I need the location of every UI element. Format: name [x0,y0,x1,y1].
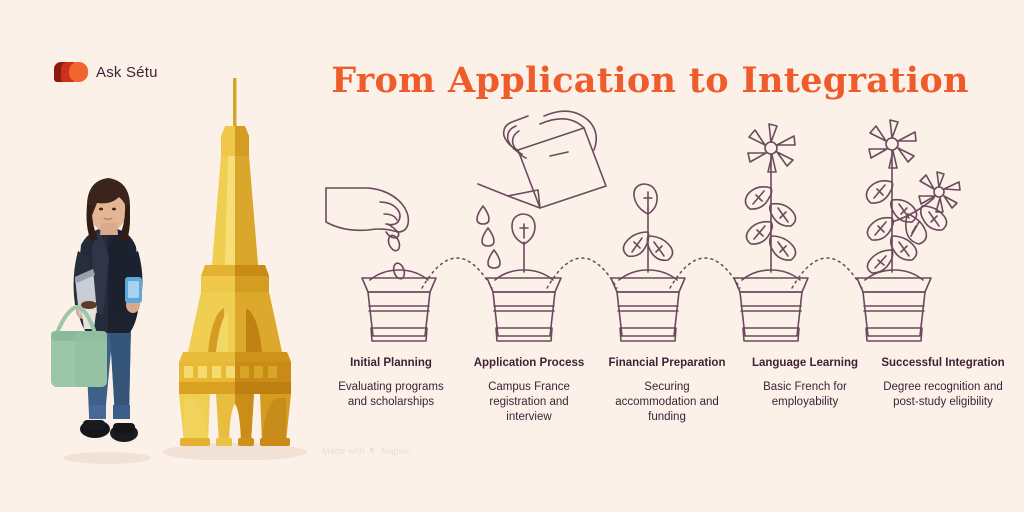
watermark-prefix: Made with [322,446,365,456]
step-caption-3: Financial Preparation Securing accommoda… [598,356,736,425]
step-caption-4: Language Learning Basic French for emplo… [736,356,874,425]
step-caption-1: Initial Planning Evaluating programs and… [322,356,460,425]
pot-step-5 [857,270,931,341]
blooming-plant-icon [866,120,960,273]
flowering-plant-icon [745,124,795,272]
step-title: Application Process [466,356,592,370]
watering-can-icon [478,111,606,208]
hand-dropping-seed-icon [326,188,408,238]
step-captions: Initial Planning Evaluating programs and… [322,356,1012,425]
sprout-icon [512,214,535,272]
napkin-logo-icon [369,447,378,456]
watermark-brand: Napkin [382,446,411,456]
pot-step-2 [487,270,561,341]
step-title: Initial Planning [328,356,454,370]
step-description: Degree recognition and post-study eligib… [880,380,1006,410]
step-description: Campus France registration and interview [466,380,592,425]
step-description: Basic French for employability [742,380,868,410]
napkin-watermark: Made with Napkin [322,446,411,456]
step-description: Securing accommodation and funding [604,380,730,425]
step-caption-5: Successful Integration Degree recognitio… [874,356,1012,425]
water-droplets-icon [477,206,500,268]
hero-illustration [20,60,320,460]
seedling-icon [623,184,672,272]
step-description: Evaluating programs and scholarships [328,380,454,410]
step-title: Financial Preparation [604,356,730,370]
step-caption-2: Application Process Campus France regist… [460,356,598,425]
infographic-canvas: Ask Sétu From Application to Integration [0,0,1024,512]
growth-journey-illustration [322,110,1012,350]
pot-step-1 [362,270,436,341]
student-with-phone-illustration [45,165,170,465]
eiffel-tower-illustration [150,60,320,460]
step-title: Language Learning [742,356,868,370]
step-title: Successful Integration [880,356,1006,370]
page-title: From Application to Integration [310,58,990,104]
